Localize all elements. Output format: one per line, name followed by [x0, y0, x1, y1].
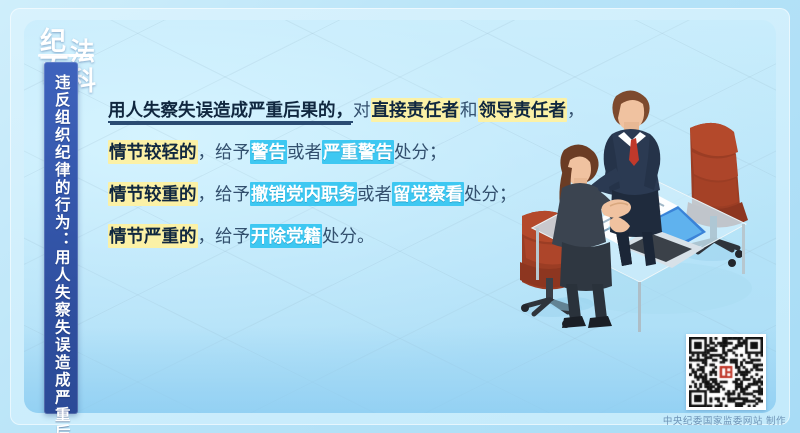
regulation-text-block: 用人失察失误造成严重后果的，对直接责任者和领导责任者，情节较轻的，给予警告或者严…	[108, 100, 578, 248]
text-segment-plain: 处分；	[464, 184, 517, 204]
text-segment-highlight-yellow: 情节严重的	[108, 224, 198, 248]
text-segment-highlight-yellow: 直接责任者	[371, 98, 461, 122]
credit-text: 中央纪委国家监委网站 制作	[663, 413, 786, 427]
text-segment-highlight-cyan: 留党察看	[392, 182, 464, 206]
text-segment-plain: ，给予	[198, 184, 251, 204]
text-segment-plain: 处分。	[322, 226, 375, 246]
qr-code-image	[689, 337, 763, 407]
text-segment-highlight-yellow: 情节较重的	[108, 182, 198, 206]
vertical-title-ribbon: 违反组织纪律的行为：用人失察失误造成严重后果	[44, 62, 78, 414]
text-segment-plain: ，给予	[198, 142, 251, 162]
text-segment-underline-double: 用人失察失误造成严重后果的，	[108, 100, 353, 123]
text-segment-highlight-cyan: 开除党籍	[250, 224, 322, 248]
text-segment-plain: ，给予	[198, 226, 251, 246]
infographic-canvas: 纪 法 百 科 违反组织纪律的行为：用人失察失误造成严重后果 用人失察失误造成严…	[0, 0, 800, 433]
line-2: 情节较轻的，给予警告或者严重警告处分；	[108, 142, 578, 164]
text-segment-plain: 或者	[287, 142, 322, 162]
text-segment-highlight-yellow: 情节较轻的	[108, 140, 198, 164]
line-4: 情节严重的，给予开除党籍处分。	[108, 226, 578, 248]
text-segment-plain: 或者	[357, 184, 392, 204]
text-segment-plain: 处分；	[394, 142, 447, 162]
text-segment-plain: ，	[567, 100, 585, 120]
text-segment-highlight-cyan: 严重警告	[322, 140, 394, 164]
ribbon-title-text: 违反组织纪律的行为：用人失察失误造成严重后果	[53, 74, 69, 433]
text-segment-highlight-yellow: 领导责任者	[478, 98, 568, 122]
text-segment-highlight-cyan: 警告	[250, 140, 287, 164]
line-3: 情节较重的，给予撤销党内职务或者留党察看处分；	[108, 184, 578, 206]
qr-code[interactable]	[686, 334, 766, 410]
text-segment-plain: 和	[460, 100, 478, 120]
line-1: 用人失察失误造成严重后果的，对直接责任者和领导责任者，	[108, 100, 578, 122]
text-segment-highlight-cyan: 撤销党内职务	[250, 182, 357, 206]
text-segment-plain: 对	[353, 100, 371, 120]
